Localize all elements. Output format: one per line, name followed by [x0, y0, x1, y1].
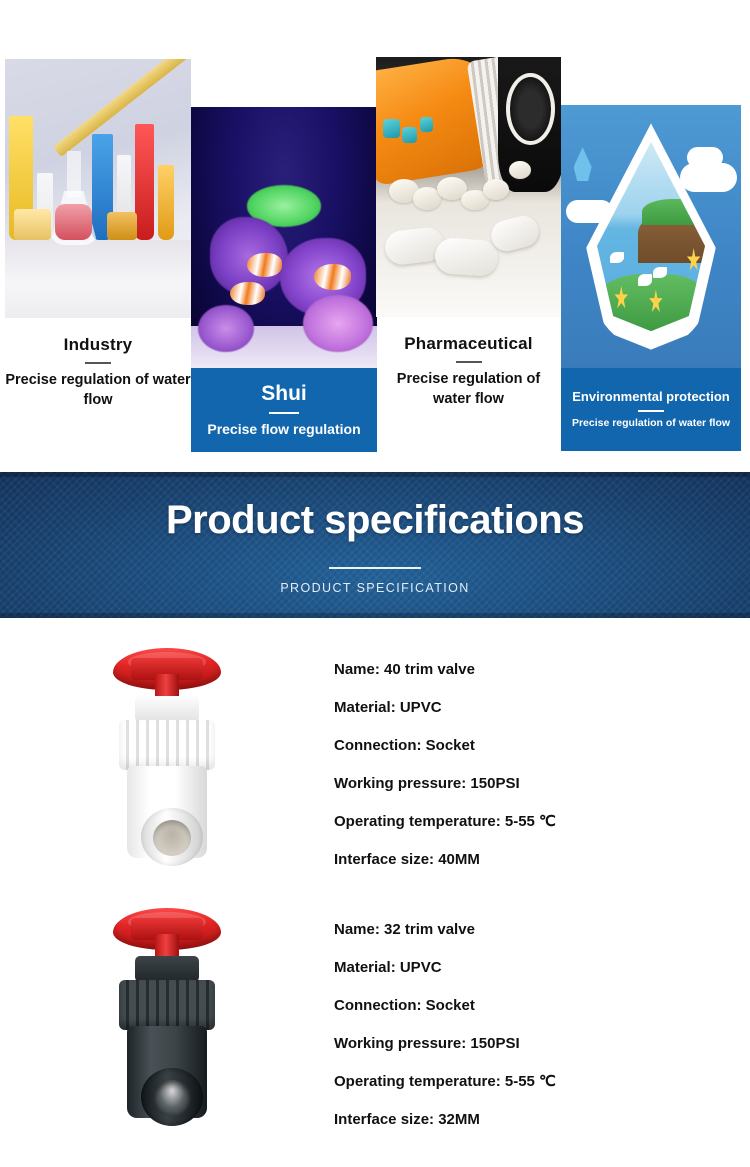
divider — [85, 362, 111, 364]
divider — [269, 412, 299, 414]
category-description: Precise regulation of water flow — [572, 417, 730, 431]
product-detail-page: Industry Precise regulation of water flo… — [0, 0, 750, 1167]
spec-line-material: Material: UPVC — [334, 960, 750, 975]
spec-text-valve-32: Name: 32 trim valve Material: UPVC Conne… — [334, 900, 750, 1150]
category-description: Precise regulation of water flow — [5, 371, 191, 410]
divider — [638, 410, 664, 412]
spec-line-interface: Interface size: 40MM — [334, 852, 750, 867]
spec-line-connection: Connection: Socket — [334, 738, 750, 753]
banner-subtitle: PRODUCT SPECIFICATION — [0, 581, 750, 595]
spec-line-connection: Connection: Socket — [334, 998, 750, 1013]
category-card-pharmaceutical[interactable]: Pharmaceutical Precise regulation of wat… — [376, 57, 561, 410]
white-trim-valve-image — [0, 640, 334, 890]
card-caption: Shui Precise flow regulation — [191, 368, 377, 452]
category-card-shui[interactable]: Shui Precise flow regulation — [191, 107, 377, 452]
spec-line-pressure: Working pressure: 150PSI — [334, 1036, 750, 1051]
spec-text-valve-40: Name: 40 trim valve Material: UPVC Conne… — [334, 640, 750, 890]
reef-aquarium-photo — [191, 107, 377, 368]
spec-line-material: Material: UPVC — [334, 700, 750, 715]
divider — [456, 361, 482, 363]
spec-line-name: Name: 32 trim valve — [334, 922, 750, 937]
category-description: Precise flow regulation — [207, 420, 360, 438]
spec-line-name: Name: 40 trim valve — [334, 662, 750, 677]
lab-glassware-photo — [5, 59, 191, 318]
pharmacy-pills-photo — [376, 57, 561, 317]
category-card-industry[interactable]: Industry Precise regulation of water flo… — [5, 59, 191, 409]
category-description: Precise regulation of water flow — [376, 370, 561, 409]
spec-line-temperature: Operating temperature: 5-55 ℃ — [334, 814, 750, 829]
category-title: Environmental protection — [572, 389, 729, 405]
spec-row-valve-32: Name: 32 trim valve Material: UPVC Conne… — [0, 900, 750, 1150]
spec-row-valve-40: Name: 40 trim valve Material: UPVC Conne… — [0, 640, 750, 890]
eco-water-drop-photo — [561, 105, 741, 368]
card-caption: Industry Precise regulation of water flo… — [5, 335, 191, 410]
card-caption: Environmental protection Precise regulat… — [561, 368, 741, 451]
spec-line-pressure: Working pressure: 150PSI — [334, 776, 750, 791]
category-title: Pharmaceutical — [376, 334, 561, 354]
category-title: Shui — [261, 382, 307, 406]
card-caption: Pharmaceutical Precise regulation of wat… — [376, 334, 561, 409]
application-category-gallery: Industry Precise regulation of water flo… — [0, 0, 750, 460]
category-card-environmental[interactable]: Environmental protection Precise regulat… — [561, 105, 741, 451]
banner-divider — [329, 567, 421, 569]
category-title: Industry — [5, 335, 191, 355]
dark-trim-valve-image — [0, 900, 334, 1150]
spec-line-interface: Interface size: 32MM — [334, 1112, 750, 1127]
product-specifications-banner: Product specifications PRODUCT SPECIFICA… — [0, 472, 750, 618]
spec-line-temperature: Operating temperature: 5-55 ℃ — [334, 1074, 750, 1089]
banner-title: Product specifications — [0, 498, 750, 543]
